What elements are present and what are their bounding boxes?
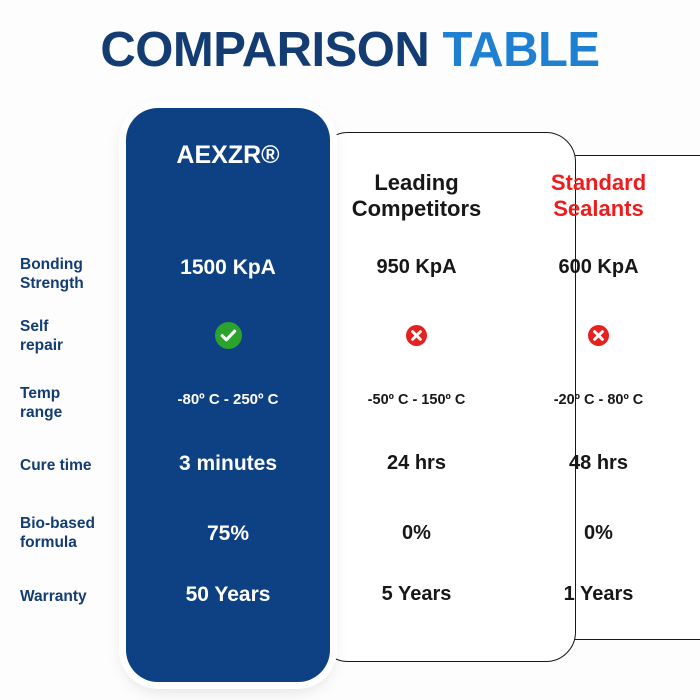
cell-warranty-standard-sealants: 1 Years: [515, 583, 682, 606]
comparison-table: AEXZR® Leading Competitors Standard Seal…: [0, 0, 700, 700]
cell-value: 3 minutes: [179, 452, 277, 475]
column-header-standard-sealants-line2: Sealants: [515, 196, 682, 222]
cell-cure-time-leading-competitors: 24 hrs: [318, 452, 515, 475]
cell-value: 48 hrs: [569, 452, 628, 474]
cell-bonding-strength-standard-sealants: 600 KpA: [515, 256, 682, 279]
column-header-aexzr-label: AEXZR®: [126, 141, 330, 171]
cell-self-repair-standard-sealants: [515, 325, 682, 351]
cell-value: -50º C - 150º C: [368, 392, 466, 408]
cell-warranty-leading-competitors: 5 Years: [318, 583, 515, 606]
row-label-warranty-line1: Warranty: [20, 588, 125, 607]
cell-temp-range-standard-sealants: -20º C - 80º C: [515, 391, 682, 409]
row-label-cure-time: Cure time: [20, 457, 125, 476]
row-label-temp-range: Temp range: [20, 385, 125, 423]
cell-temp-range-leading-competitors: -50º C - 150º C: [318, 391, 515, 409]
cell-bio-based-formula-leading-competitors: 0%: [318, 522, 515, 545]
cell-value: 1500 KpA: [180, 256, 276, 279]
cell-value: -20º C - 80º C: [554, 392, 644, 408]
check-circle-icon: [215, 322, 242, 349]
row-label-self-repair-line2: repair: [20, 337, 125, 356]
column-header-standard-sealants: Standard Sealants: [515, 170, 682, 222]
row-label-warranty: Warranty: [20, 588, 125, 607]
cell-value: -80º C - 250º C: [178, 391, 279, 408]
cell-value: 24 hrs: [387, 452, 446, 474]
row-label-cure-time-line1: Cure time: [20, 457, 125, 476]
row-label-self-repair-line1: Self: [20, 318, 125, 337]
row-label-bonding-strength: Bonding Strength: [20, 256, 125, 294]
row-label-self-repair: Self repair: [20, 318, 125, 356]
row-label-temp-range-line2: range: [20, 404, 125, 423]
cell-value: 5 Years: [382, 583, 452, 605]
cross-circle-icon: [588, 325, 609, 346]
cell-self-repair-leading-competitors: [318, 325, 515, 351]
cell-bonding-strength-leading-competitors: 950 KpA: [318, 256, 515, 279]
row-label-bonding-strength-line2: Strength: [20, 275, 125, 294]
cell-bio-based-formula-aexzr: 75%: [126, 522, 330, 546]
cell-value: 0%: [402, 522, 431, 544]
column-header-leading-competitors: Leading Competitors: [318, 170, 515, 222]
row-label-bio-based-formula: Bio-based formula: [20, 515, 125, 553]
row-label-bio-based-formula-line1: Bio-based: [20, 515, 125, 534]
cell-warranty-aexzr: 50 Years: [126, 583, 330, 607]
cell-cure-time-aexzr: 3 minutes: [126, 452, 330, 476]
cell-bio-based-formula-standard-sealants: 0%: [515, 522, 682, 545]
column-header-aexzr: AEXZR®: [126, 141, 330, 171]
row-label-bio-based-formula-line2: formula: [20, 534, 125, 553]
row-label-bonding-strength-line1: Bonding: [20, 256, 125, 275]
cell-value: 1 Years: [564, 583, 634, 605]
cell-value: 50 Years: [186, 583, 271, 606]
cell-value: 75%: [207, 522, 249, 545]
column-header-leading-competitors-line2: Competitors: [318, 196, 515, 222]
cell-temp-range-aexzr: -80º C - 250º C: [126, 391, 330, 409]
column-header-leading-competitors-line1: Leading: [318, 170, 515, 196]
cross-circle-icon: [406, 325, 427, 346]
cell-bonding-strength-aexzr: 1500 KpA: [126, 256, 330, 280]
cell-value: 600 KpA: [558, 256, 638, 278]
cell-cure-time-standard-sealants: 48 hrs: [515, 452, 682, 475]
cell-value: 950 KpA: [376, 256, 456, 278]
cell-self-repair-aexzr: [126, 322, 330, 354]
cell-value: 0%: [584, 522, 613, 544]
column-header-standard-sealants-line1: Standard: [515, 170, 682, 196]
row-label-temp-range-line1: Temp: [20, 385, 125, 404]
